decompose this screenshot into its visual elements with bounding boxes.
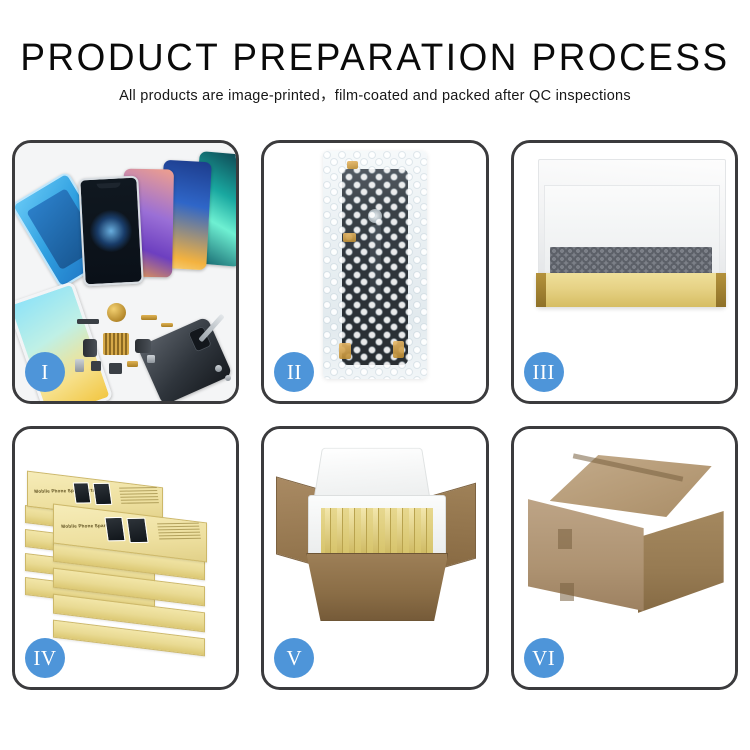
battery-part-graphic [109, 363, 122, 374]
page-title: PRODUCT PREPARATION PROCESS [11, 36, 739, 80]
step-badge-6: VI [524, 638, 564, 678]
vibrator-part-graphic [77, 319, 99, 324]
tape-bottom-right-graphic [393, 341, 404, 358]
speaker-part-graphic [107, 303, 126, 322]
box-label-screen-1 [104, 517, 125, 541]
tape-top-graphic [347, 161, 358, 169]
step-badge-3: III [524, 352, 564, 392]
step-6-illustration: VI [514, 429, 735, 687]
tape-bottom-left-graphic [339, 343, 351, 359]
process-step-panel-2: II [261, 140, 488, 404]
box-label-spec-lines [157, 523, 201, 540]
box-stack-graphic: Mobile Phone Spare Parts Mobile P [23, 451, 235, 647]
yellow-box-tray-graphic [536, 273, 726, 307]
carton-body-graphic [306, 553, 448, 621]
page-subtitle: All products are image-printed，film-coat… [0, 87, 750, 105]
process-step-panel-6: VI [511, 426, 738, 690]
camera-part-graphic [91, 361, 101, 371]
step-1-illustration: I [15, 143, 236, 401]
packed-boxes-graphic [321, 508, 433, 556]
foam-lid-graphic [314, 448, 431, 500]
phone-glass-graphic [78, 176, 144, 287]
screw-set-graphic [127, 361, 138, 367]
bubble-wrap-bag-graphic [323, 151, 427, 379]
step-badge-1: I [25, 352, 65, 392]
sealed-carton-graphic [528, 455, 724, 615]
box-label-spec-lines [119, 487, 159, 504]
box-label-screen-2 [93, 483, 113, 505]
box-label-screen-1 [73, 482, 92, 503]
step-5-illustration: V [264, 429, 485, 687]
flex-cable-2-graphic [135, 339, 151, 353]
process-step-panel-5: V [261, 426, 488, 690]
foam-cooler-graphic [308, 495, 446, 563]
flex-cable-graphic [83, 339, 97, 357]
step-3-illustration: III [514, 143, 735, 401]
step-badge-4: IV [25, 638, 65, 678]
carton-top-face [550, 455, 712, 517]
header: PRODUCT PREPARATION PROCESS All products… [0, 36, 750, 105]
box-label-screen-2 [126, 518, 148, 544]
carton-tape-lower [560, 583, 574, 601]
process-step-panel-3: III [511, 140, 738, 404]
connector-part-graphic [141, 315, 157, 320]
process-step-grid: I II [12, 140, 738, 690]
carton-tape-upper [558, 529, 572, 549]
step-2-illustration: II [264, 143, 485, 401]
logic-board-graphic [103, 333, 129, 355]
step-4-illustration: Mobile Phone Spare Parts Mobile P [15, 429, 236, 687]
carton-front-face [528, 499, 644, 611]
process-step-panel-4: Mobile Phone Spare Parts Mobile P [12, 426, 239, 690]
button-part-graphic [147, 355, 155, 363]
carton-side-face [638, 511, 724, 613]
connector-small-graphic [161, 323, 173, 327]
process-step-panel-1: I [12, 140, 239, 404]
infographic-page: PRODUCT PREPARATION PROCESS All products… [0, 0, 750, 750]
sim-tray-graphic [75, 359, 84, 372]
screw-2-graphic [225, 375, 231, 381]
tape-mid-graphic [343, 233, 356, 242]
screw-graphic [215, 365, 222, 372]
